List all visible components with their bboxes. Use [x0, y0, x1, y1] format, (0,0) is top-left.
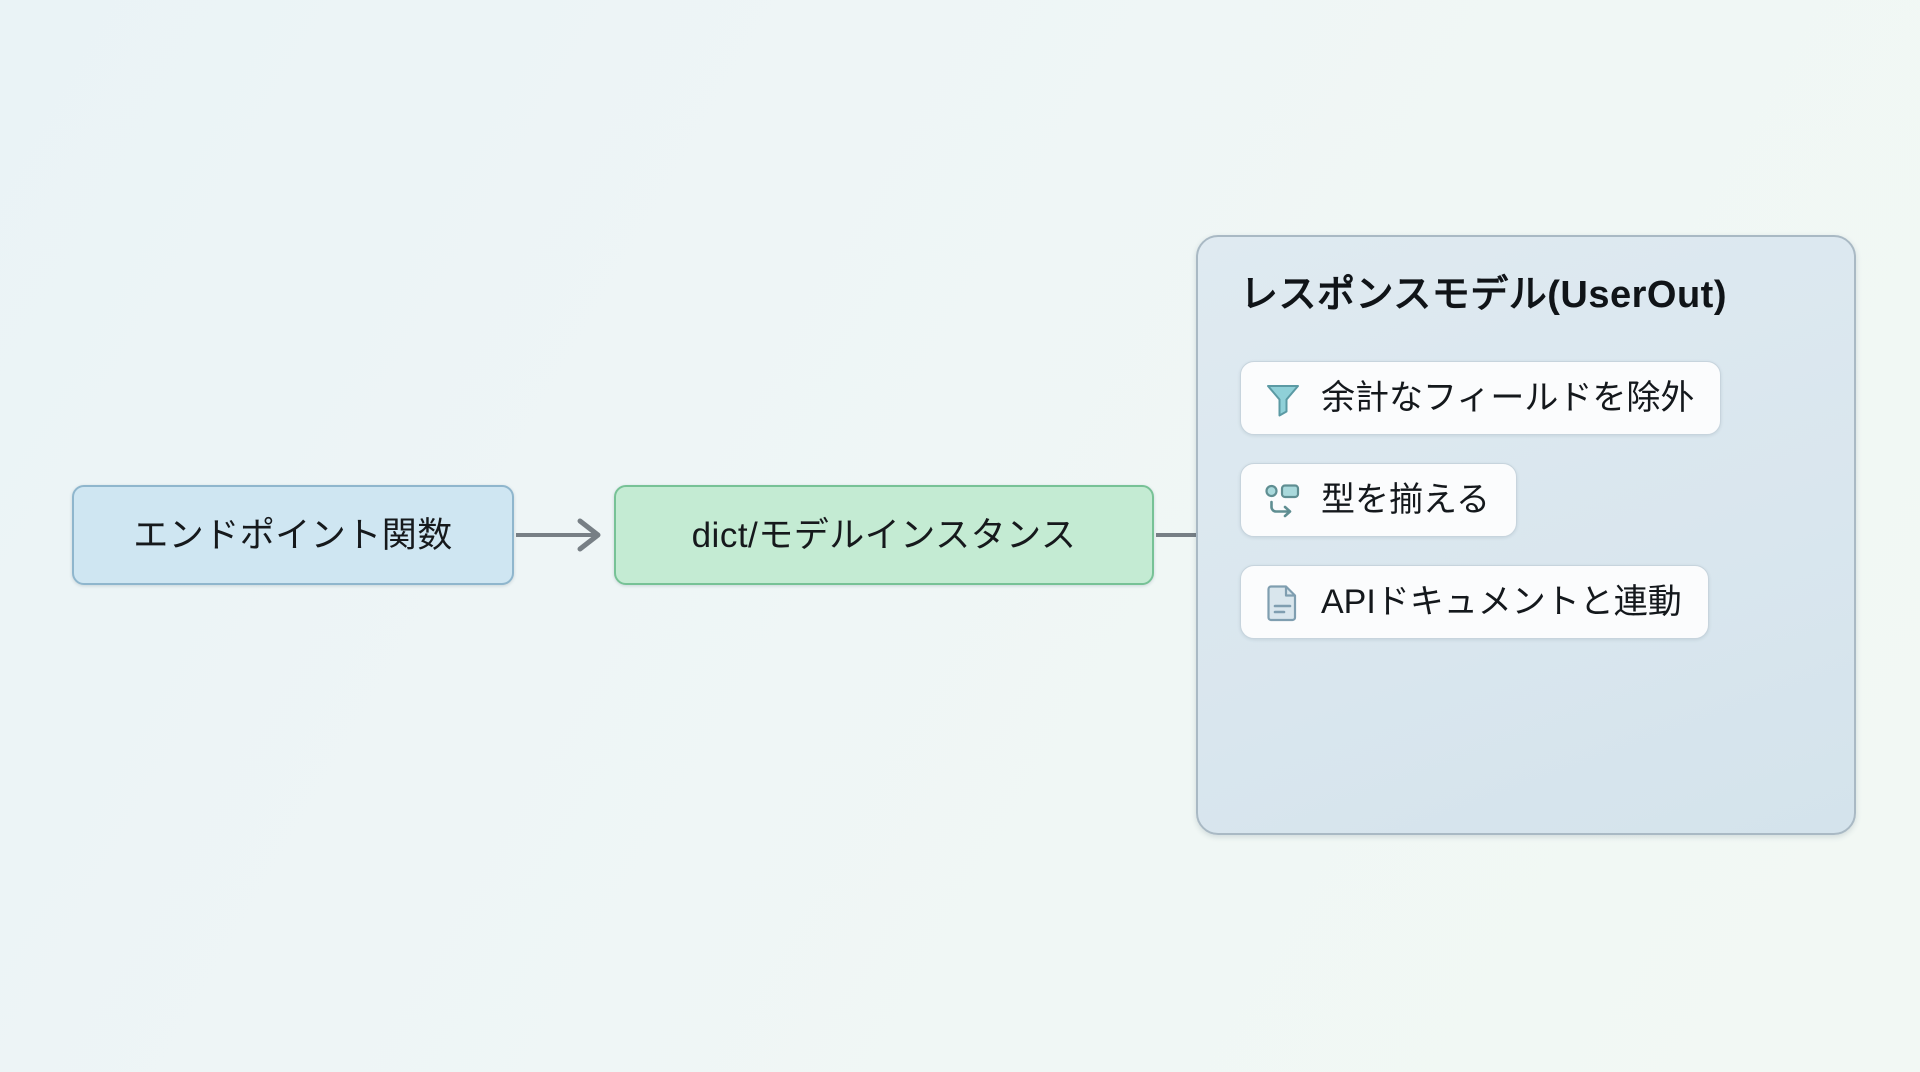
arrow-endpoint-to-payload [514, 515, 614, 555]
diagram-canvas: エンドポイント関数 dict/モデルインスタンス レスポンスモデル(UserOu… [0, 0, 1920, 1072]
feature-list: 余計なフィールドを除外 型を揃える [1240, 361, 1812, 639]
type-transform-icon [1263, 480, 1303, 520]
funnel-icon [1263, 378, 1303, 418]
response-model-panel: レスポンスモデル(UserOut) 余計なフィールドを除外 [1196, 235, 1856, 835]
node-endpoint-function[interactable]: エンドポイント関数 [72, 485, 514, 585]
feature-label-api-docs: APIドキュメントと連動 [1321, 585, 1682, 619]
document-icon [1263, 582, 1303, 622]
feature-card-exclude-fields[interactable]: 余計なフィールドを除外 [1240, 361, 1721, 435]
panel-title: レスポンスモデル(UserOut) [1240, 275, 1812, 317]
node-dict-model-instance-label: dict/モデルインスタンス [692, 518, 1077, 553]
feature-label-exclude-fields: 余計なフィールドを除外 [1321, 381, 1694, 415]
node-endpoint-function-label: エンドポイント関数 [133, 518, 453, 553]
feature-label-align-types: 型を揃える [1321, 483, 1490, 517]
feature-card-api-docs[interactable]: APIドキュメントと連動 [1240, 565, 1709, 639]
node-dict-model-instance[interactable]: dict/モデルインスタンス [614, 485, 1154, 585]
flow-row: エンドポイント関数 dict/モデルインスタンス [72, 485, 1254, 585]
feature-card-align-types[interactable]: 型を揃える [1240, 463, 1517, 537]
